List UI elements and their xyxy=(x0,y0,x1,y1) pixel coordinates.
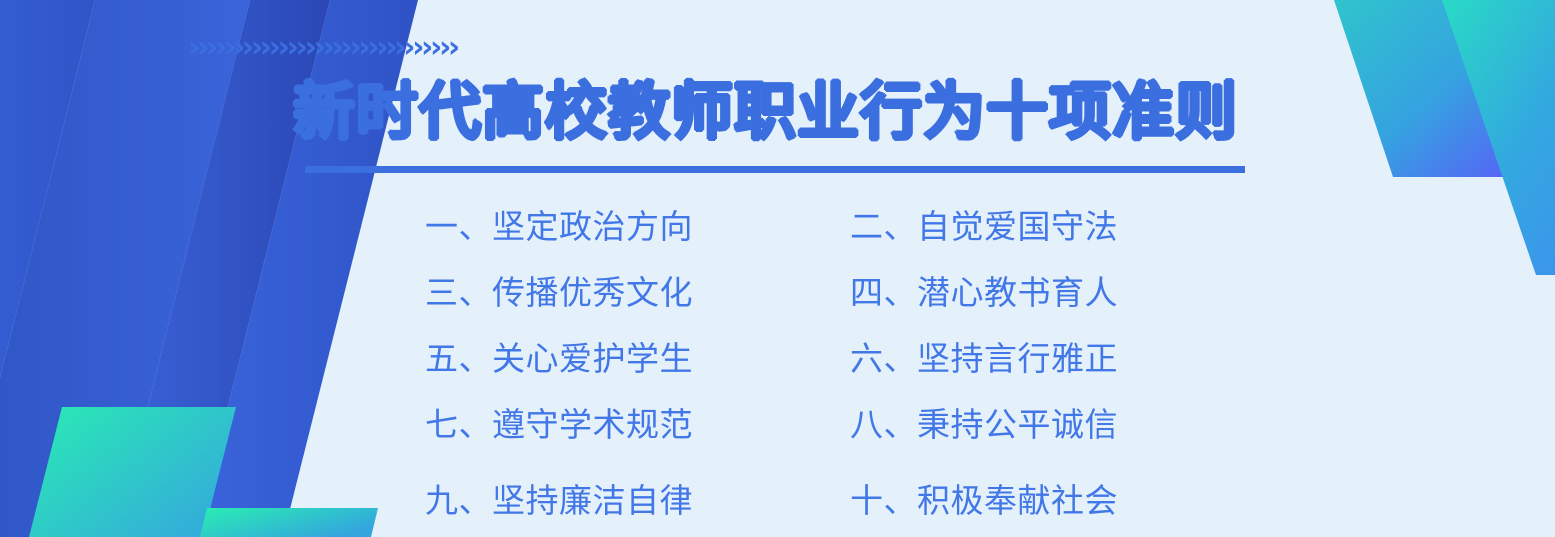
list-item: 四、潜心教书育人 xyxy=(850,260,1155,326)
list-item: 五、关心爱护学生 xyxy=(425,326,850,392)
page-title: 新时代高校教师职业行为十项准则 xyxy=(293,72,1273,152)
title-underline xyxy=(305,166,1245,173)
banner-poster: ›››››››››››››››››››››››››››››› 新时代高校教师职业… xyxy=(0,0,1555,537)
list-item: 六、坚持言行雅正 xyxy=(850,326,1155,392)
guideline-list: 一、坚定政治方向 二、自觉爱国守法 三、传播优秀文化 四、潜心教书育人 五、关心… xyxy=(425,194,1155,524)
list-item: 八、秉持公平诚信 xyxy=(850,392,1155,458)
list-item: 十、积极奉献社会 xyxy=(850,458,1155,524)
chevron-strip-icon: ›››››››››››››››››››››››››››››› xyxy=(188,27,788,69)
list-item: 三、传播优秀文化 xyxy=(425,260,850,326)
list-item: 一、坚定政治方向 xyxy=(425,194,850,260)
list-item: 七、遵守学术规范 xyxy=(425,392,850,458)
list-item: 九、坚持廉洁自律 xyxy=(425,458,850,524)
list-item: 二、自觉爱国守法 xyxy=(850,194,1155,260)
